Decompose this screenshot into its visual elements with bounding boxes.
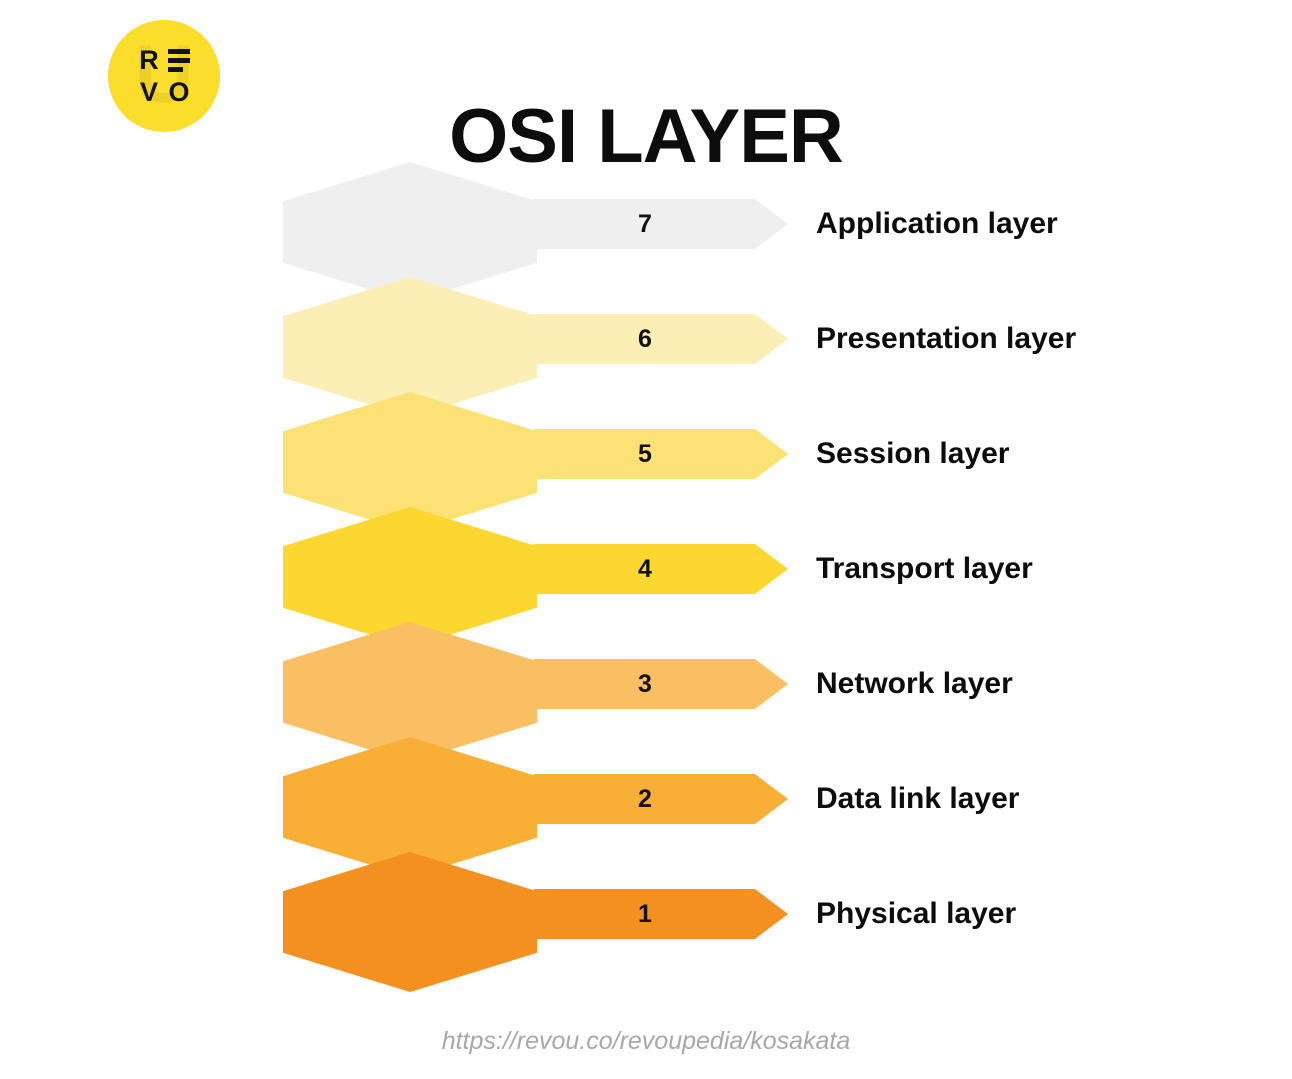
osi-layer-diagram: 7Application layer6Presentation layer5Se…	[0, 170, 1292, 1000]
layer-label: Network layer	[816, 659, 1013, 709]
layer-hexagon	[283, 852, 537, 992]
osi-layer-row[interactable]: 3Network layer	[0, 635, 1292, 750]
layer-number: 1	[534, 889, 756, 939]
layer-number: 6	[534, 314, 756, 364]
layer-label: Transport layer	[816, 544, 1033, 594]
layer-label: Session layer	[816, 429, 1009, 479]
layer-label: Presentation layer	[816, 314, 1076, 364]
layer-number: 3	[534, 659, 756, 709]
layer-label: Application layer	[816, 199, 1058, 249]
page-title: OSI LAYER	[0, 99, 1292, 175]
layer-number: 4	[534, 544, 756, 594]
osi-layer-row[interactable]: 4Transport layer	[0, 520, 1292, 635]
layer-number: 2	[534, 774, 756, 824]
logo-letter-r: R	[139, 47, 159, 74]
layer-label: Data link layer	[816, 774, 1019, 824]
layer-label: Physical layer	[816, 889, 1016, 939]
logo-letter-e-bars	[168, 49, 190, 72]
osi-layer-row[interactable]: 7Application layer	[0, 175, 1292, 290]
osi-layer-row[interactable]: 1Physical layer	[0, 865, 1292, 980]
osi-layer-row[interactable]: 2Data link layer	[0, 750, 1292, 865]
source-url: https://revou.co/revoupedia/kosakata	[0, 1027, 1292, 1056]
osi-layer-row[interactable]: 6Presentation layer	[0, 290, 1292, 405]
layer-number: 5	[534, 429, 756, 479]
layer-number: 7	[534, 199, 756, 249]
osi-layer-row[interactable]: 5Session layer	[0, 405, 1292, 520]
